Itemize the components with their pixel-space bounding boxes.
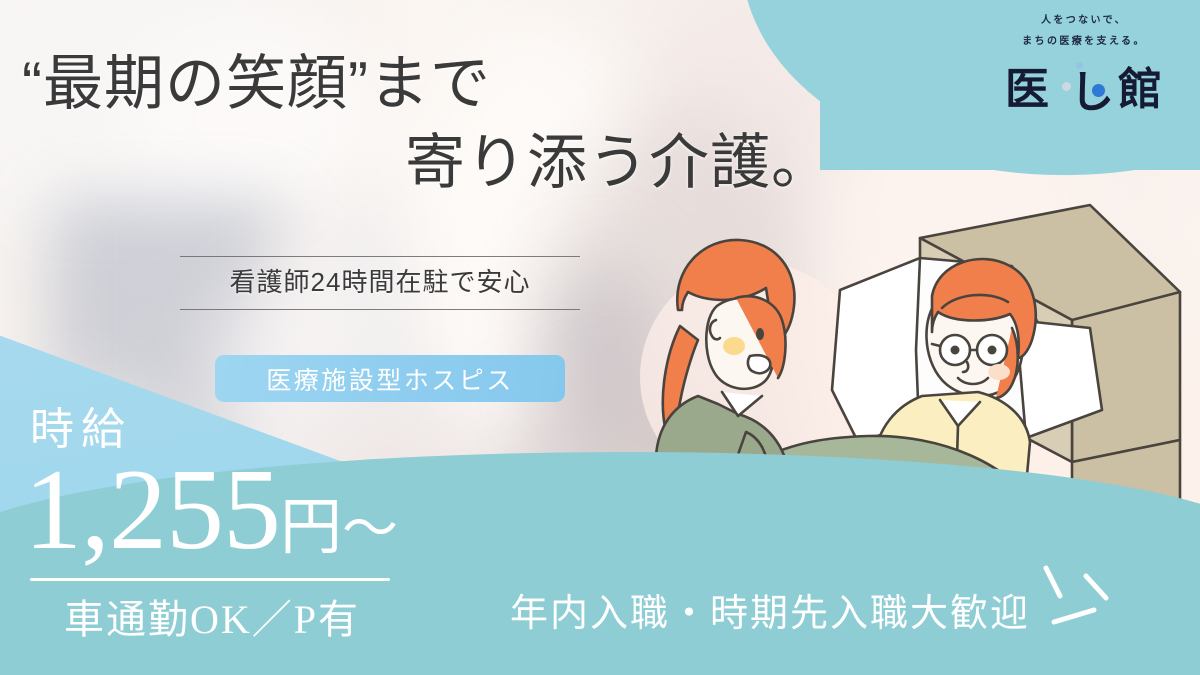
- salary-note: 車通勤OK／P有: [24, 587, 424, 645]
- rule-top: [180, 256, 580, 257]
- logo-tagline-line-2: まちの医療を支える。: [984, 33, 1184, 51]
- salary-currency: 円: [280, 494, 342, 562]
- rule-bottom: [180, 309, 580, 310]
- status-badge: 医療施設型ホスピス: [215, 355, 565, 402]
- salary-tilde: 〜: [342, 499, 397, 561]
- badge-label: 医療施設型ホスピス: [266, 361, 514, 397]
- logo-char-mid: し: [1070, 56, 1115, 120]
- salary-amount: 1,255: [24, 446, 280, 574]
- page-title: “最期の笑顔”まで 寄り添う介護。: [22, 44, 852, 202]
- headline-line-2: 寄り添う介護。: [22, 123, 852, 202]
- subtext-block: 看護師24時間在駐で安心: [180, 256, 580, 310]
- job-ad-banner: “最期の笑顔”まで 寄り添う介護。 看護師24時間在駐で安心 医療施設型ホスピス…: [0, 0, 1200, 675]
- logo-tagline-line-1: 人をつないで、: [984, 12, 1184, 30]
- logo-char-right: 館: [1118, 53, 1163, 117]
- headline-line-1: “最期の笑顔”まで: [22, 44, 852, 123]
- salary-amount-row: 1,255円〜: [24, 454, 424, 568]
- sparkle-lines-icon: [1020, 560, 1160, 650]
- logo-char-left: 医: [1005, 53, 1050, 117]
- salary-divider: [30, 578, 390, 581]
- salary-block: 時給 1,255円〜 車通勤OK／P有: [24, 408, 424, 645]
- subtext: 看護師24時間在駐で安心: [180, 257, 580, 309]
- logo-mid-wrap: し: [1056, 60, 1112, 110]
- logo-mark: 医 し 館: [984, 53, 1184, 117]
- bottom-right-copy: 年内入職・時期先入職大歓迎: [510, 582, 1030, 637]
- logo: 人をつないで、 まちの医療を支える。 医 し 館: [984, 12, 1184, 117]
